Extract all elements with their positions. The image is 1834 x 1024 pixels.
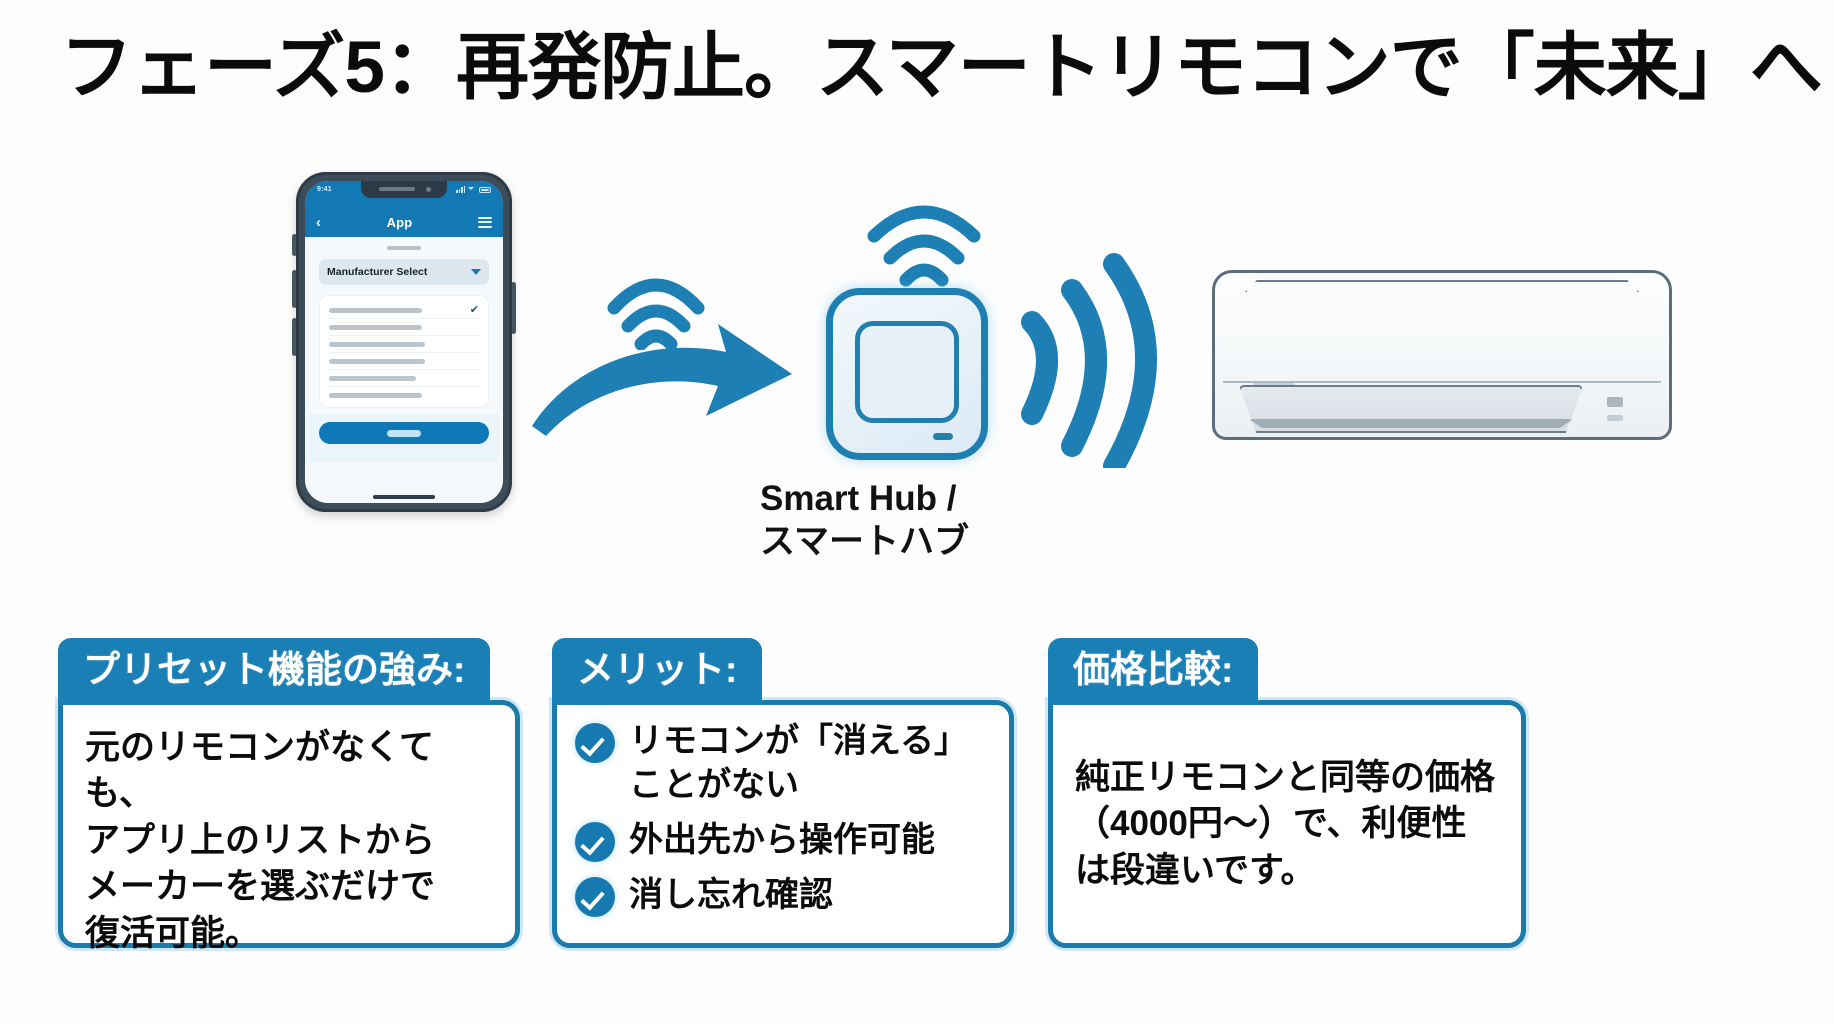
earpiece-speaker bbox=[379, 187, 415, 191]
smart-hub-label-line1: Smart Hub / bbox=[760, 478, 1090, 521]
smart-hub-label: Smart Hub / スマートハブ bbox=[760, 478, 1090, 563]
list-item: 外出先から操作可能 bbox=[575, 818, 991, 862]
infographic-canvas: フェーズ5：再発防止。スマートリモコンで「未来」へ 9:41 bbox=[0, 0, 1834, 1024]
signal-icon bbox=[456, 186, 465, 193]
phone-volume-up-button[interactable] bbox=[292, 270, 297, 308]
battery-icon bbox=[479, 187, 491, 193]
list-item-placeholder bbox=[329, 308, 422, 313]
smartphone-mockup: 9:41 ‹ App bbox=[296, 172, 512, 512]
ac-display-indicator bbox=[1607, 397, 1623, 407]
ac-intake-slot bbox=[1245, 280, 1639, 292]
checkmark-icon: ✔ bbox=[470, 305, 479, 316]
merit-text: 消し忘れ確認 bbox=[629, 873, 833, 917]
wifi-icon bbox=[468, 186, 476, 193]
card-body-box: 純正リモコンと同等の価格 （4000円〜）で、利便性 は段違いです。 bbox=[1048, 700, 1526, 948]
merit-text: 外出先から操作可能 bbox=[629, 818, 935, 862]
app-navigation-bar: ‹ App bbox=[305, 207, 503, 237]
hub-body bbox=[826, 288, 988, 460]
hub-front-panel bbox=[855, 321, 959, 423]
hamburger-menu-icon[interactable] bbox=[478, 217, 492, 228]
ac-louver-flap bbox=[1249, 419, 1573, 428]
list-item[interactable] bbox=[329, 319, 479, 336]
list-item[interactable] bbox=[329, 353, 479, 370]
ac-panel-divider bbox=[1223, 381, 1661, 383]
info-card-merits: メリット: リモコンが「消える」 ことがない 外出先から操作可能 消し忘れ確認 bbox=[552, 638, 1014, 948]
list-item-placeholder bbox=[329, 393, 422, 398]
status-bar-time: 9:41 bbox=[317, 186, 332, 193]
info-card-price-comparison: 価格比較: 純正リモコンと同等の価格 （4000円〜）で、利便性 は段違いです。 bbox=[1048, 638, 1526, 948]
front-camera-icon bbox=[426, 187, 431, 192]
card-header-tab: 価格比較: bbox=[1048, 638, 1258, 704]
list-item-placeholder bbox=[329, 376, 416, 381]
page-title: フェーズ5：再発防止。スマートリモコンで「未来」へ bbox=[60, 28, 1800, 108]
list-item-placeholder bbox=[329, 359, 425, 364]
merit-list: リモコンが「消える」 ことがない 外出先から操作可能 消し忘れ確認 bbox=[575, 719, 991, 918]
card-body-text: 元のリモコンがなくても、 アプリ上のリストから メーカーを選ぶだけで 復活可能。 bbox=[85, 725, 493, 958]
phone-notch bbox=[361, 181, 447, 198]
list-item[interactable] bbox=[329, 336, 479, 353]
list-item-placeholder bbox=[329, 342, 425, 347]
bottom-sheet: Manufacturer Select ✔ bbox=[309, 237, 499, 462]
status-bar: 9:41 bbox=[305, 181, 503, 207]
ac-status-indicator bbox=[1607, 415, 1623, 421]
sheet-grabber-handle[interactable] bbox=[387, 246, 421, 250]
card-header-tab: メリット: bbox=[552, 638, 762, 704]
phone-power-button[interactable] bbox=[511, 282, 516, 334]
smart-hub-device bbox=[826, 288, 988, 460]
list-item: リモコンが「消える」 ことがない bbox=[575, 719, 991, 807]
led-indicator-icon bbox=[933, 433, 953, 440]
primary-action-button[interactable] bbox=[319, 422, 489, 444]
phone-mute-switch[interactable] bbox=[292, 234, 297, 256]
card-body-text: 純正リモコンと同等の価格 （4000円〜）で、利便性 は段違いです。 bbox=[1075, 755, 1499, 895]
card-body-box: リモコンが「消える」 ことがない 外出先から操作可能 消し忘れ確認 bbox=[552, 700, 1014, 948]
status-bar-icons bbox=[456, 186, 491, 193]
info-card-preset-strength: プリセット機能の強み: 元のリモコンがなくても、 アプリ上のリストから メーカー… bbox=[58, 638, 520, 948]
manufacturer-select-label: Manufacturer Select bbox=[327, 266, 427, 278]
merit-text: リモコンが「消える」 ことがない bbox=[629, 719, 968, 807]
manufacturer-select-dropdown[interactable]: Manufacturer Select bbox=[319, 259, 489, 285]
chevron-down-icon bbox=[471, 269, 481, 275]
list-item[interactable] bbox=[329, 387, 479, 404]
checkmark-circle-icon bbox=[575, 822, 615, 862]
list-item[interactable] bbox=[329, 370, 479, 387]
curved-arrow-right-icon bbox=[530, 318, 800, 458]
smart-hub-label-line2: スマートハブ bbox=[760, 521, 1090, 564]
ac-body bbox=[1212, 270, 1672, 440]
checkmark-circle-icon bbox=[575, 723, 615, 763]
list-item[interactable]: ✔ bbox=[329, 302, 479, 319]
checkmark-circle-icon bbox=[575, 877, 615, 917]
home-indicator bbox=[373, 495, 435, 499]
cta-footer bbox=[309, 414, 499, 462]
card-body-box: 元のリモコンがなくても、 アプリ上のリストから メーカーを選ぶだけで 復活可能。 bbox=[58, 700, 520, 948]
button-label-placeholder bbox=[387, 430, 421, 437]
wifi-icon bbox=[866, 186, 982, 290]
phone-screen: 9:41 ‹ App bbox=[305, 181, 503, 503]
manufacturer-list: ✔ bbox=[319, 295, 489, 408]
list-item-placeholder bbox=[329, 325, 422, 330]
phone-volume-down-button[interactable] bbox=[292, 318, 297, 356]
card-header-tab: プリセット機能の強み: bbox=[58, 638, 490, 704]
list-item: 消し忘れ確認 bbox=[575, 873, 991, 917]
phone-frame: 9:41 ‹ App bbox=[296, 172, 512, 512]
back-chevron-icon[interactable]: ‹ bbox=[316, 215, 321, 230]
signal-waves-icon bbox=[1010, 238, 1190, 468]
app-title: App bbox=[387, 215, 413, 230]
air-conditioner-unit bbox=[1212, 270, 1672, 440]
